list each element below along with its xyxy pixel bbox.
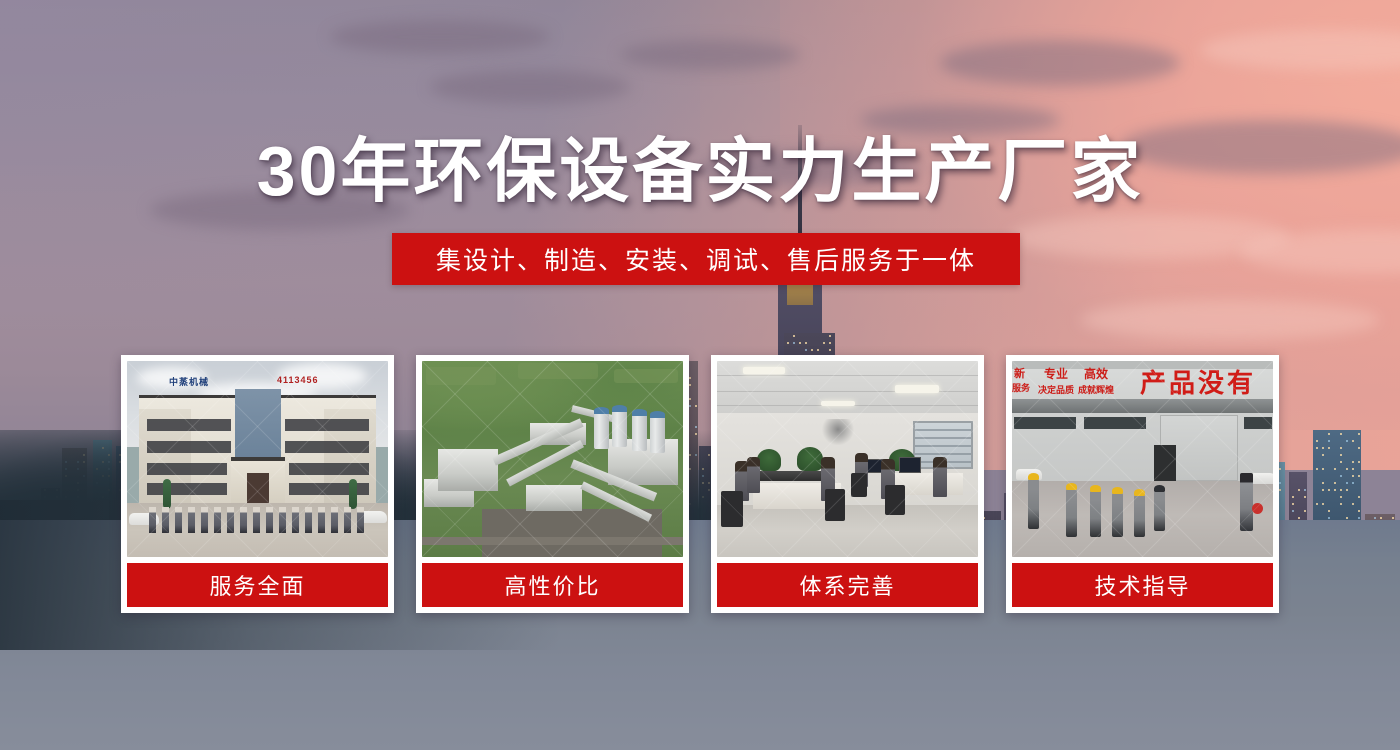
window-row [147, 441, 231, 453]
safety-helmet [1154, 485, 1165, 492]
feature-card[interactable]: 产品没有 新 专业 高效 服务 决定品质 成就辉煌 [1006, 355, 1279, 613]
window-row [147, 463, 227, 475]
factory-slogan-2: 专业 [1044, 365, 1068, 382]
staff-member [253, 507, 260, 533]
building-window [1322, 468, 1324, 470]
building-window [1316, 447, 1318, 449]
building-window [1328, 440, 1330, 442]
factory-worker [1154, 491, 1165, 531]
building-window [1322, 482, 1324, 484]
staff-member [292, 507, 299, 533]
factory-window-row [1244, 417, 1272, 429]
ceiling-light [743, 367, 785, 374]
window-blind-slat [915, 445, 971, 447]
supervisor [1240, 473, 1253, 531]
building-window [1374, 517, 1376, 519]
staff-member [214, 507, 221, 533]
building-window [799, 342, 801, 344]
parked-car [1250, 473, 1273, 484]
building-window [1298, 517, 1300, 519]
building-window [1279, 482, 1281, 484]
storage-silo [632, 413, 647, 451]
wall-logo-decal [821, 419, 855, 445]
building-window [1298, 489, 1300, 491]
feature-card-list: 中蒸机械 4113456 服务全面 [121, 355, 1279, 613]
farm-field [518, 363, 598, 379]
feature-card[interactable]: 体系完善 [711, 355, 984, 613]
building-window [787, 342, 789, 344]
computer-monitor [899, 457, 921, 473]
building-window [829, 335, 831, 337]
building-window [1328, 433, 1330, 435]
factory-subslogan-2: 决定品质 [1038, 383, 1074, 396]
building-window [1334, 482, 1336, 484]
staff-member [331, 507, 338, 533]
staff-member [357, 507, 364, 533]
staff-member [279, 507, 286, 533]
window-blind-slat [915, 437, 971, 439]
building-window [1392, 517, 1394, 519]
building-window [1346, 489, 1348, 491]
safety-helmet [1028, 473, 1039, 480]
window-row [289, 463, 369, 475]
factory-main-slogan: 产品没有 [1140, 363, 1256, 400]
subtitle-bar: 集设计、制造、安装、调试、售后服务于一体 [392, 233, 1020, 285]
staff-member [266, 507, 273, 533]
building-window [1304, 510, 1306, 512]
building-window [1340, 503, 1342, 505]
factory-worker [1066, 489, 1077, 537]
safety-helmet [1134, 489, 1145, 496]
red-helmet-held [1252, 503, 1263, 514]
storage-silo [612, 409, 627, 447]
staff-member [344, 507, 351, 533]
subtitle-text: 集设计、制造、安装、调试、售后服务于一体 [436, 241, 976, 277]
building-window [1292, 503, 1294, 505]
factory-worker [1028, 479, 1039, 529]
building-window [1340, 447, 1342, 449]
factory-slogan-3: 高效 [1084, 365, 1108, 382]
building-window [823, 342, 825, 344]
building-window [793, 342, 795, 344]
office-chair [851, 473, 867, 497]
ceiling-light [895, 385, 939, 393]
building-window [1358, 447, 1360, 449]
card-label: 服务全面 [127, 563, 388, 607]
aerial-plant-photo [422, 361, 683, 557]
building-window [1322, 489, 1324, 491]
silo-top [632, 409, 647, 416]
farm-field [426, 367, 496, 385]
staff-member [305, 507, 312, 533]
building-window [1352, 468, 1354, 470]
office-chair [885, 485, 905, 515]
building-window [1352, 440, 1354, 442]
window-blind-slat [915, 429, 971, 431]
office-chair [721, 491, 743, 527]
window-row [285, 441, 369, 453]
building-window [1358, 475, 1360, 477]
building-window [1346, 440, 1348, 442]
page-title: 30年环保设备实力生产厂家 [0, 132, 1400, 210]
building-window [829, 349, 831, 351]
building-window [1346, 468, 1348, 470]
building-window [1292, 496, 1294, 498]
building-window [1328, 510, 1330, 512]
staff-member [318, 507, 325, 533]
factory-window-row [1014, 417, 1076, 429]
building-window [1316, 468, 1318, 470]
building-window [1316, 503, 1318, 505]
building-window [1334, 468, 1336, 470]
safety-helmet [1066, 483, 1077, 490]
building-window [1328, 447, 1330, 449]
building-window [1304, 496, 1306, 498]
building-window [805, 349, 807, 351]
building-window [1358, 510, 1360, 512]
staff-member [188, 507, 195, 533]
card-label-text: 体系完善 [799, 569, 895, 601]
office-worker [747, 457, 760, 493]
building-window [1346, 482, 1348, 484]
building-window [793, 335, 795, 337]
plant-yard [482, 509, 662, 557]
building-phone-text: 4113456 [277, 375, 319, 385]
courtyard-tree [349, 479, 357, 509]
factory-side-door [1154, 445, 1176, 481]
building-window [1292, 510, 1294, 512]
card-label-text: 高性价比 [504, 569, 600, 601]
building-window [1316, 440, 1318, 442]
building-window [1358, 517, 1360, 519]
cloud [860, 105, 1060, 135]
building-window [1340, 475, 1342, 477]
staff-member [240, 507, 247, 533]
banner-stage: 30年环保设备实力生产厂家 集设计、制造、安装、调试、售后服务于一体 [0, 0, 1400, 750]
building-window [1328, 517, 1330, 519]
building-window [1334, 489, 1336, 491]
silo-top [594, 407, 609, 414]
card-label-text: 技术指导 [1094, 569, 1190, 601]
silo-top [650, 411, 665, 418]
cloud [330, 20, 550, 54]
window-row [285, 419, 369, 431]
cloud [620, 40, 800, 70]
building-window [1352, 475, 1354, 477]
storage-silo [594, 411, 609, 449]
factory-workers-photo: 产品没有 新 专业 高效 服务 决定品质 成就辉煌 [1012, 361, 1273, 557]
cloud [940, 40, 1180, 86]
building-window [1358, 461, 1360, 463]
card-label: 技术指导 [1012, 563, 1273, 607]
ceiling-grid-line [717, 375, 978, 376]
staff-member [175, 507, 182, 533]
building-window [1322, 447, 1324, 449]
building-window [1304, 489, 1306, 491]
factory-wall-band [1012, 399, 1273, 413]
factory-window-row [1084, 417, 1146, 429]
office-interior-photo [717, 361, 978, 557]
building-window [1279, 468, 1281, 470]
window-blind-slat [915, 453, 971, 455]
ceiling-light [821, 401, 855, 406]
office-plant [757, 449, 781, 471]
building-window [1346, 517, 1348, 519]
office-plant [797, 447, 823, 471]
building-window [1340, 454, 1342, 456]
building-window [829, 342, 831, 344]
factory-subslogan-3: 成就辉煌 [1078, 383, 1114, 396]
factory-worker [1090, 491, 1101, 537]
farm-field [614, 369, 678, 383]
office-worker [933, 457, 947, 497]
building-window [811, 349, 813, 351]
building-window [1352, 503, 1354, 505]
building-main-door [247, 473, 269, 503]
building-window [1328, 489, 1330, 491]
desk-partition [753, 471, 829, 481]
office-chair [825, 489, 845, 521]
building-window [805, 342, 807, 344]
building-window [1340, 496, 1342, 498]
card-label: 高性价比 [422, 563, 683, 607]
building-window [1322, 454, 1324, 456]
factory-subslogan-1: 服务 [1012, 381, 1030, 394]
feature-card[interactable]: 高性价比 [416, 355, 689, 613]
window-row [289, 483, 369, 495]
silo-top [612, 405, 627, 412]
safety-helmet [1090, 485, 1101, 492]
building-window [1279, 489, 1281, 491]
staff-member [162, 507, 169, 533]
building-window [1352, 461, 1354, 463]
staff-member [227, 507, 234, 533]
window-row [147, 483, 227, 495]
company-headquarters-photo: 中蒸机械 4113456 [127, 361, 388, 557]
building-window [1322, 503, 1324, 505]
building-window [1380, 517, 1382, 519]
staff-member [149, 507, 156, 533]
building-window [1340, 433, 1342, 435]
safety-helmet [1112, 487, 1123, 494]
card-label-text: 服务全面 [209, 569, 305, 601]
storage-silo [650, 415, 665, 453]
office-floor [717, 505, 978, 557]
building-sign-text: 中蒸机械 [169, 375, 209, 388]
access-road [422, 537, 683, 545]
plant-building [526, 485, 582, 511]
feature-card[interactable]: 中蒸机械 4113456 服务全面 [121, 355, 394, 613]
factory-worker [1134, 495, 1145, 537]
building-window [1358, 433, 1360, 435]
building-window [1352, 482, 1354, 484]
card-label: 体系完善 [717, 563, 978, 607]
building-window [817, 349, 819, 351]
building-window [1358, 496, 1360, 498]
factory-worker [1112, 493, 1123, 537]
window-row [147, 419, 231, 431]
cloud [430, 70, 630, 104]
staff-member [201, 507, 208, 533]
building-window [1340, 461, 1342, 463]
factory-slogan-1: 新 [1014, 365, 1025, 381]
plant-building [438, 449, 498, 491]
building-window [1340, 489, 1342, 491]
courtyard-tree [163, 479, 171, 509]
